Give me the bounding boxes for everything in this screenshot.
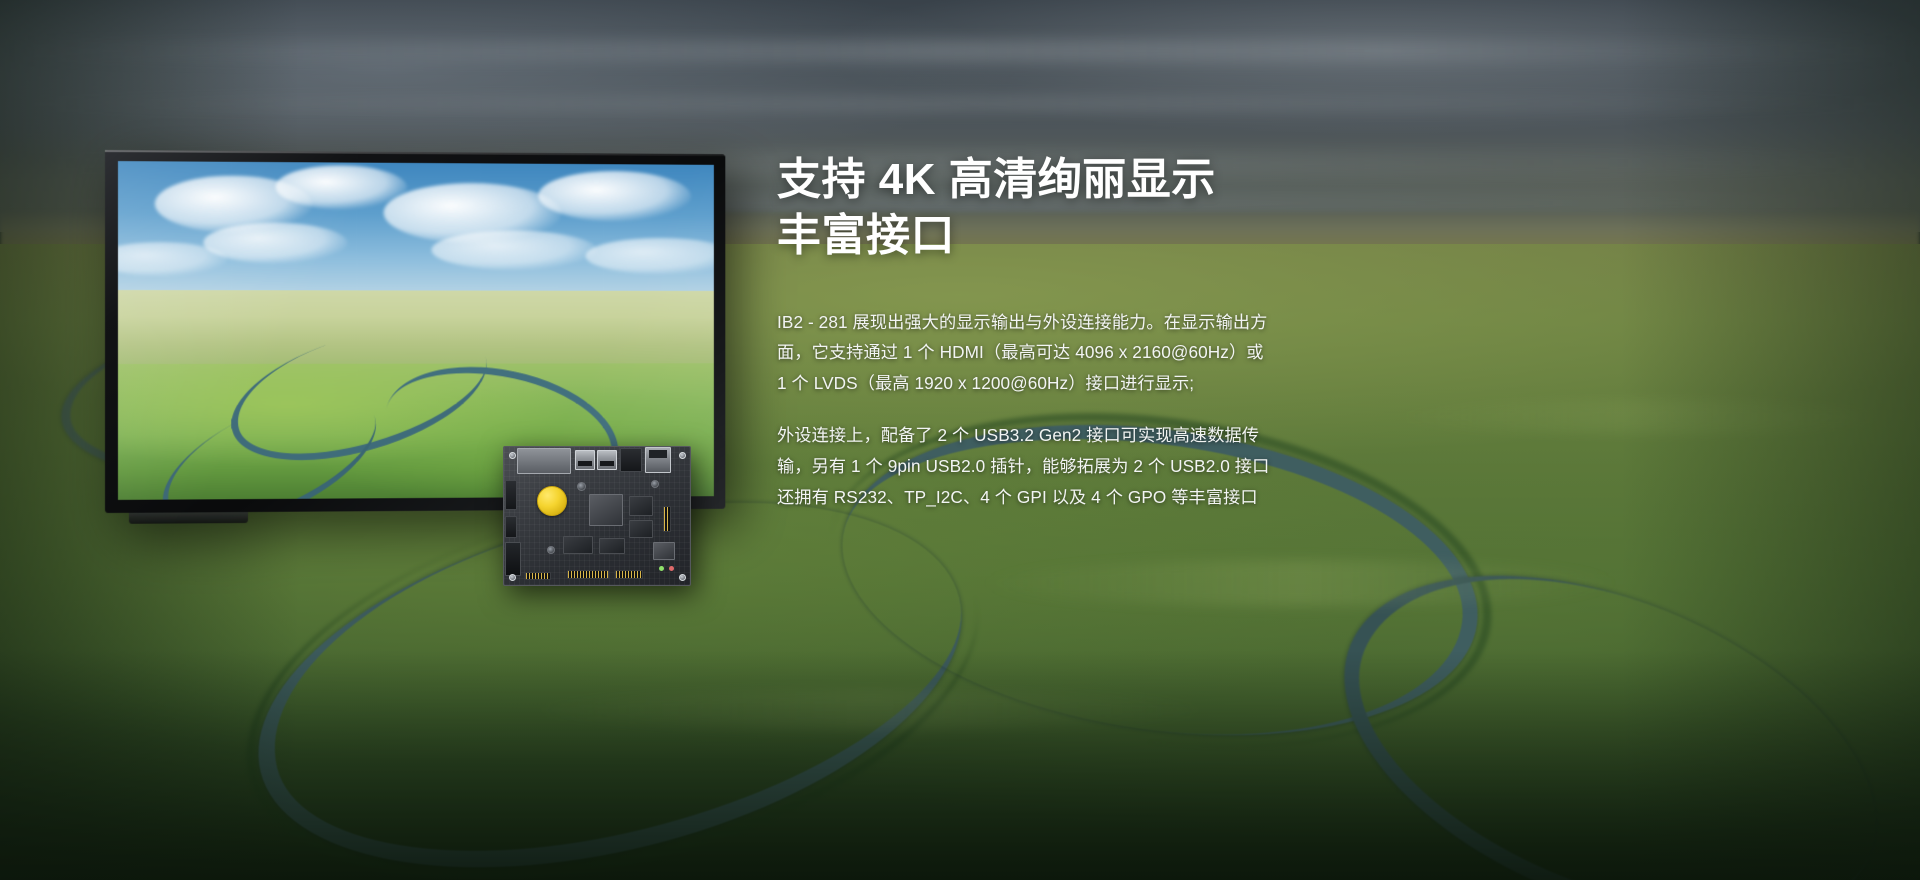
edge-connector (505, 516, 517, 538)
status-led (659, 566, 664, 571)
memory-chip (629, 520, 653, 538)
tv-stand (129, 512, 248, 524)
mount-screw (679, 452, 686, 459)
mount-screw (509, 574, 516, 581)
flash-chip (563, 536, 593, 554)
mount-screw (679, 574, 686, 581)
paragraph-peripheral-io: 外设连接上，配备了 2 个 USB3.2 Gen2 接口可实现高速数据传输，另有… (777, 420, 1277, 512)
paragraph-display-output: IB2 - 281 展现出强大的显示输出与外设连接能力。在显示输出方面，它支持通… (777, 307, 1277, 399)
usb-port (575, 450, 595, 470)
pin-header-lvds (663, 506, 671, 532)
grass-highlight (980, 560, 1620, 606)
coin-battery (537, 486, 567, 516)
pin-header-9pin-usb (567, 570, 609, 579)
body-copy: IB2 - 281 展现出强大的显示输出与外设连接能力。在显示输出方面，它支持通… (777, 307, 1297, 513)
marketing-copy: 支持 4K 高清绚丽显示 丰富接口 IB2 - 281 展现出强大的显示输出与外… (777, 152, 1297, 512)
pin-header-rs232 (525, 572, 551, 580)
pin-header-gpio (615, 570, 643, 579)
ethernet-port (645, 447, 671, 473)
page-title: 支持 4K 高清绚丽显示 丰富接口 (777, 152, 1297, 265)
memory-chip (629, 496, 653, 516)
expansion-slot (505, 542, 521, 576)
capacitor (577, 482, 586, 491)
mount-screw (509, 452, 516, 459)
capacitor (547, 546, 555, 554)
hdmi-port (620, 448, 642, 472)
screen-cloud (538, 170, 691, 221)
controller-chip (599, 538, 625, 554)
io-shield (517, 448, 571, 474)
pcb-motherboard (503, 446, 691, 586)
headline-line-2: 丰富接口 (777, 208, 1297, 264)
headline-line-1: 支持 4K 高清绚丽显示 (777, 152, 1297, 208)
edge-connector (505, 480, 517, 510)
right-vignette (1620, 0, 1920, 880)
regulator-chip (653, 542, 675, 560)
soc-chip (589, 494, 623, 526)
usb-port (597, 450, 617, 470)
power-led (669, 566, 674, 571)
capacitor (651, 480, 659, 488)
